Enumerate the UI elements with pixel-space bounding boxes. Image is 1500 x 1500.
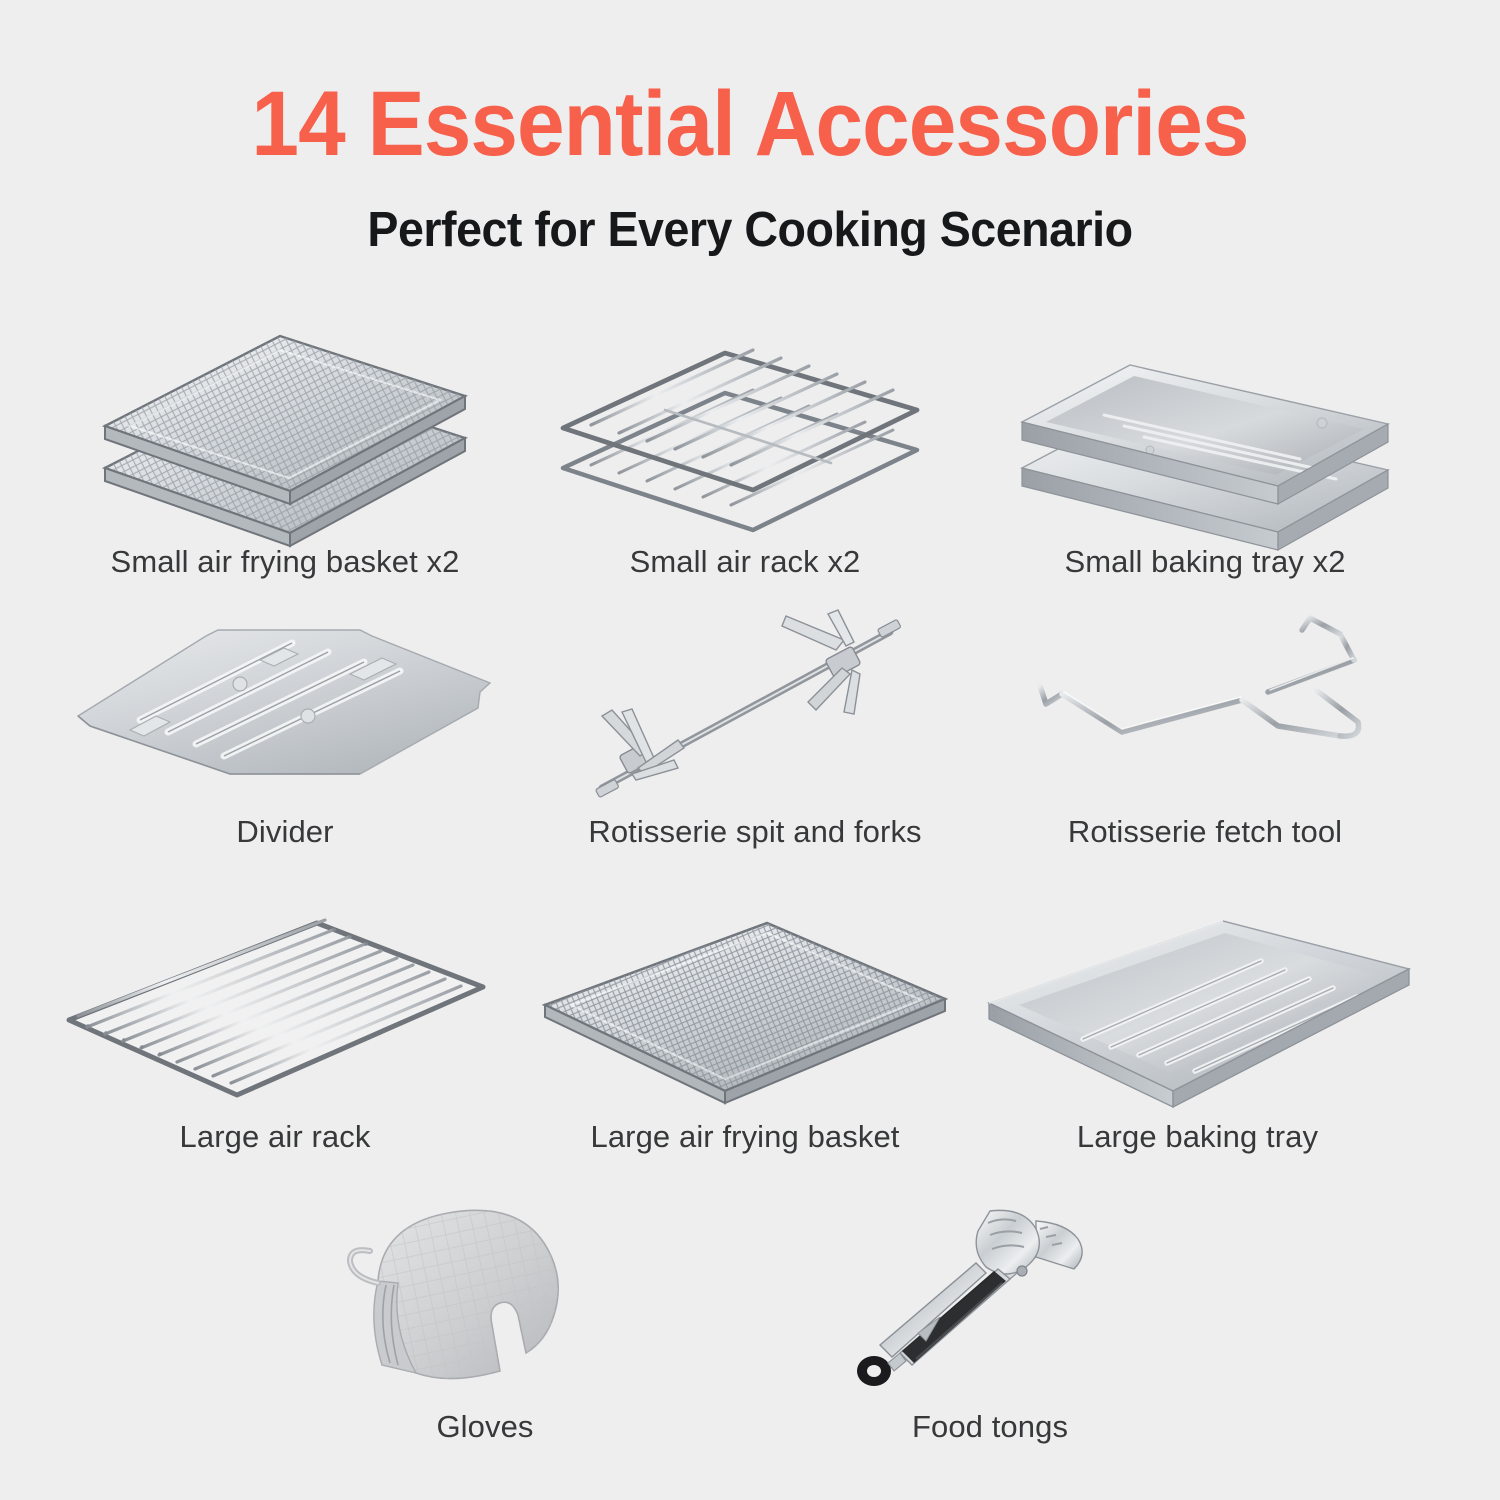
- product-cell-rotisserie-spit: Rotisserie spit and forks: [560, 608, 950, 878]
- divider-plate-icon: [60, 608, 510, 818]
- rotisserie-fetch-tool-icon: [1010, 608, 1400, 818]
- product-cell-large-air-rack: Large air rack: [55, 895, 495, 1185]
- product-caption: Rotisserie spit and forks: [560, 816, 950, 847]
- product-caption: Rotisserie fetch tool: [1010, 816, 1400, 847]
- stacked-mesh-basket-icon: [75, 318, 495, 548]
- product-caption: Small baking tray x2: [1000, 546, 1410, 577]
- large-wire-rack-icon: [55, 895, 495, 1125]
- product-cell-rotisserie-fetch-tool: Rotisserie fetch tool: [1010, 608, 1400, 878]
- page-title: 14 Essential Accessories: [53, 78, 1448, 170]
- oven-glove-icon: [330, 1195, 640, 1425]
- infographic-page: 14 Essential Accessories Perfect for Eve…: [0, 0, 1500, 1500]
- product-cell-gloves: Gloves: [330, 1195, 640, 1475]
- product-caption: Divider: [60, 816, 510, 847]
- large-mesh-basket-icon: [535, 895, 955, 1125]
- rotisserie-spit-icon: [560, 608, 950, 818]
- product-cell-large-baking-tray: Large baking tray: [975, 895, 1420, 1185]
- product-caption: Small air frying basket x2: [75, 546, 495, 577]
- large-baking-tray-icon: [975, 895, 1420, 1125]
- product-cell-food-tongs: Food tongs: [840, 1195, 1140, 1475]
- food-tongs-icon: [840, 1195, 1140, 1425]
- stacked-wire-rack-icon: [545, 318, 945, 548]
- product-caption: Large air rack: [55, 1121, 495, 1152]
- stacked-baking-tray-icon: [1000, 318, 1410, 548]
- product-caption: Large air frying basket: [535, 1121, 955, 1152]
- product-caption: Food tongs: [840, 1411, 1140, 1442]
- product-cell-large-air-frying-basket: Large air frying basket: [535, 895, 955, 1185]
- product-caption: Small air rack x2: [545, 546, 945, 577]
- page-subtitle: Perfect for Every Cooking Scenario: [38, 206, 1463, 255]
- product-caption: Large baking tray: [975, 1121, 1420, 1152]
- product-cell-divider: Divider: [60, 608, 510, 878]
- product-caption: Gloves: [330, 1411, 640, 1442]
- product-cell-small-air-frying-basket: Small air frying basket x2: [75, 318, 495, 598]
- product-cell-small-air-rack: Small air rack x2: [545, 318, 945, 598]
- product-cell-small-baking-tray: Small baking tray x2: [1000, 318, 1410, 598]
